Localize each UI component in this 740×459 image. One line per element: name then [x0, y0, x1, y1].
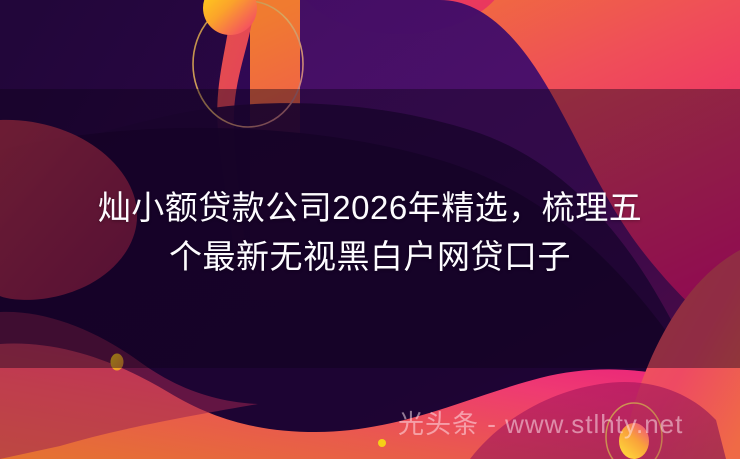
poster-canvas: 灿小额贷款公司2026年精选，梳理五 个最新无视黑白户网贷口子 光头条 - ww… [0, 0, 740, 459]
page-title-line-1: 灿小额贷款公司2026年精选，梳理五 [24, 183, 716, 232]
yellow-dot-small [378, 439, 386, 447]
page-title-line-2: 个最新无视黑白户网贷口子 [24, 232, 716, 281]
page-title: 灿小额贷款公司2026年精选，梳理五 个最新无视黑白户网贷口子 [0, 183, 740, 281]
gradient-dot-left [111, 354, 124, 371]
site-watermark: 光头条 - www.stlhty.net [398, 408, 683, 440]
